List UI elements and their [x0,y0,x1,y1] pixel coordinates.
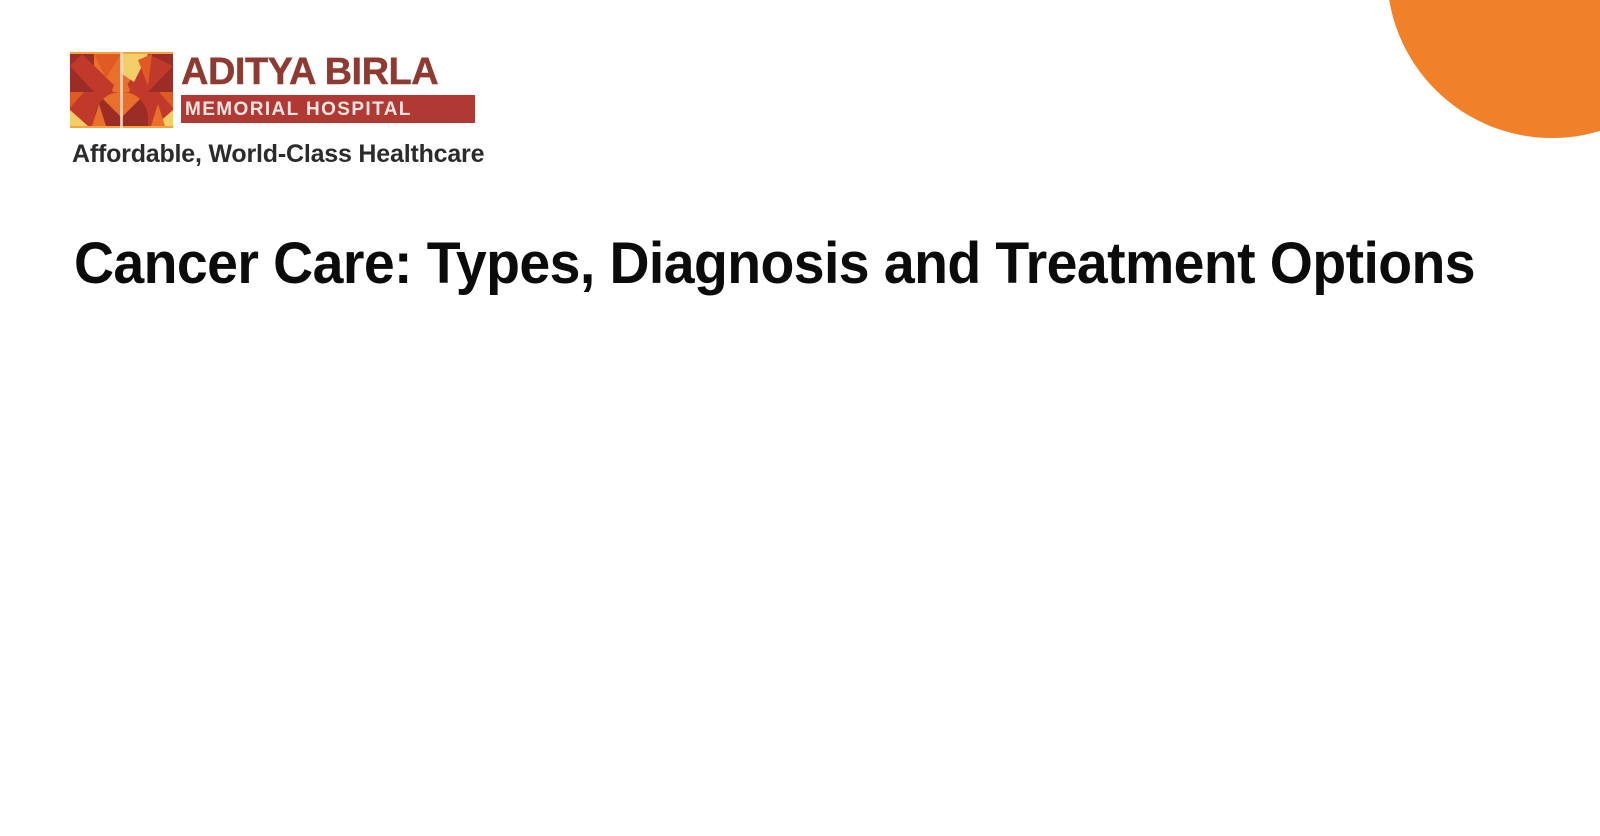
presentation-slide: ADITYA BIRLA MEMORIAL HOSPITAL Affordabl… [0,0,1600,836]
logo-wordmark-column: ADITYA BIRLA MEMORIAL HOSPITAL [173,52,475,128]
aditya-birla-mosaic-mark-icon [70,52,173,128]
brand-sub-bar: MEMORIAL HOSPITAL [181,95,475,123]
brand-tagline: Affordable, World-Class Healthcare [72,140,484,168]
hospital-logo: ADITYA BIRLA MEMORIAL HOSPITAL Affordabl… [70,52,475,128]
slide-body-content [74,285,1560,806]
brand-name: ADITYA BIRLA [181,52,475,92]
brand-sub-text: MEMORIAL HOSPITAL [185,100,412,119]
orange-corner-circle [1387,0,1600,138]
